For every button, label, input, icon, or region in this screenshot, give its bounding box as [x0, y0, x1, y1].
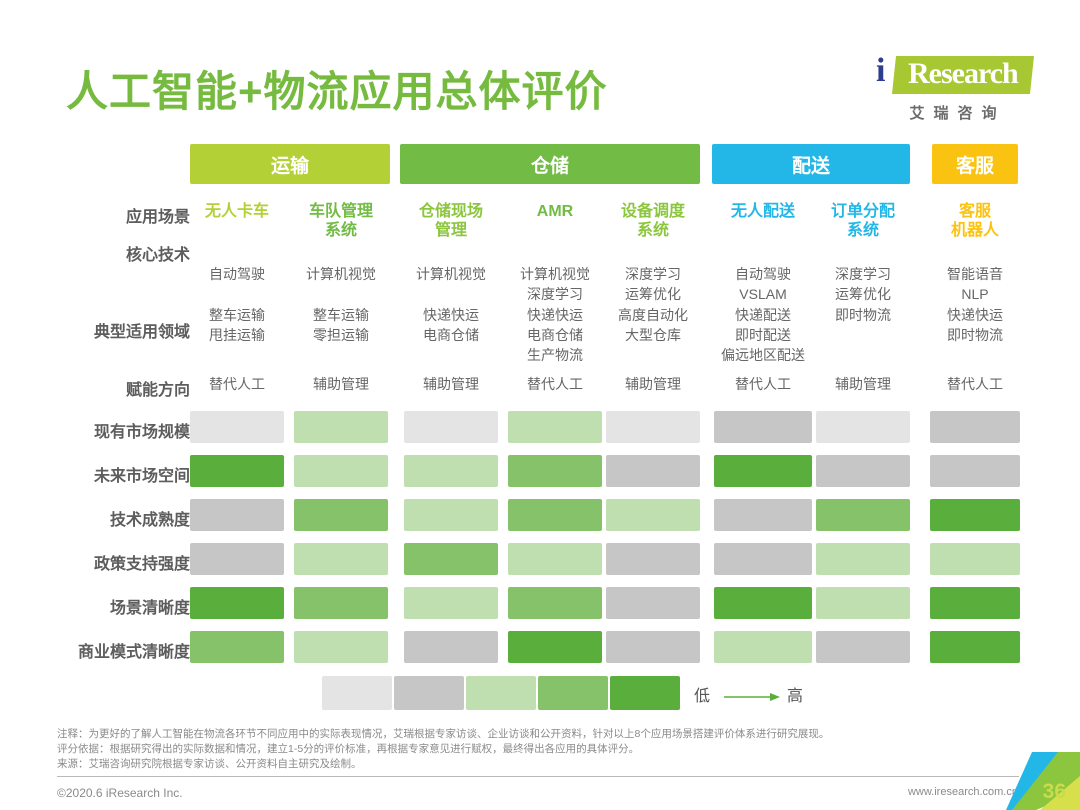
- row-label-domain: 典型适用领域: [40, 318, 190, 342]
- cell-technology-3: 计算机视觉深度学习: [508, 264, 602, 304]
- column-header-7[interactable]: 客服机器人: [930, 202, 1020, 240]
- legend-swatch-3: [466, 676, 536, 710]
- cell-technology-7: 智能语音NLP: [930, 264, 1020, 304]
- cell-empower-2: 辅助管理: [404, 374, 498, 394]
- cell-empower-7: 替代人工: [930, 374, 1020, 394]
- heat-cell-r4-c6[interactable]: [816, 587, 910, 619]
- cell-domain-0: 整车运输甩挂运输: [190, 305, 284, 345]
- heat-cell-r4-c4[interactable]: [606, 587, 700, 619]
- heat-cell-r5-c3[interactable]: [508, 631, 602, 663]
- heat-cell-r1-c1[interactable]: [294, 455, 388, 487]
- heat-cell-r2-c4[interactable]: [606, 499, 700, 531]
- heat-cell-r5-c4[interactable]: [606, 631, 700, 663]
- heat-cell-r2-c0[interactable]: [190, 499, 284, 531]
- heat-cell-r1-c3[interactable]: [508, 455, 602, 487]
- cell-domain-3: 快递快运电商仓储生产物流: [508, 305, 602, 365]
- cell-domain-1: 整车运输零担运输: [294, 305, 388, 345]
- row-label-technology: 核心技术: [40, 241, 190, 265]
- heat-cell-r0-c3[interactable]: [508, 411, 602, 443]
- category-header-1[interactable]: 仓储: [400, 144, 700, 184]
- category-header-3[interactable]: 客服: [932, 144, 1018, 184]
- heat-cell-r5-c0[interactable]: [190, 631, 284, 663]
- heat-cell-r0-c2[interactable]: [404, 411, 498, 443]
- heat-cell-r1-c2[interactable]: [404, 455, 498, 487]
- heat-cell-r2-c6[interactable]: [816, 499, 910, 531]
- heat-cell-r4-c5[interactable]: [714, 587, 812, 619]
- heat-cell-r0-c7[interactable]: [930, 411, 1020, 443]
- heat-cell-r1-c0[interactable]: [190, 455, 284, 487]
- heat-cell-r4-c1[interactable]: [294, 587, 388, 619]
- cell-domain-6: 即时物流: [816, 305, 910, 325]
- heat-cell-r3-c7[interactable]: [930, 543, 1020, 575]
- heat-cell-r5-c2[interactable]: [404, 631, 498, 663]
- heat-cell-r3-c1[interactable]: [294, 543, 388, 575]
- heat-cell-r2-c3[interactable]: [508, 499, 602, 531]
- heat-cell-r5-c6[interactable]: [816, 631, 910, 663]
- column-header-2[interactable]: 仓储现场管理: [404, 202, 498, 240]
- heat-cell-r1-c5[interactable]: [714, 455, 812, 487]
- column-header-3[interactable]: AMR: [508, 202, 602, 221]
- column-header-5[interactable]: 无人配送: [714, 202, 812, 221]
- heat-cell-r3-c6[interactable]: [816, 543, 910, 575]
- rating-row-label-2: 技术成熟度: [40, 506, 190, 530]
- heat-cell-r0-c5[interactable]: [714, 411, 812, 443]
- column-header-1[interactable]: 车队管理系统: [294, 202, 388, 240]
- legend-swatch-4: [538, 676, 608, 710]
- heat-cell-r3-c2[interactable]: [404, 543, 498, 575]
- column-header-6[interactable]: 订单分配系统: [816, 202, 910, 240]
- slide: 人工智能+物流应用总体评价 i Research 艾瑞咨询 运输仓储配送客服应用…: [0, 0, 1080, 810]
- rating-row-label-4: 场景清晰度: [40, 594, 190, 618]
- heat-cell-r5-c5[interactable]: [714, 631, 812, 663]
- row-label-scenario: 应用场景: [40, 203, 190, 227]
- legend-high-label: 高: [787, 682, 803, 706]
- footnote-line-2: 评分依据：根据研究得出的实际数据和情况，建立1-5分的评价标准，再根据专家意见进…: [57, 742, 1019, 757]
- category-header-0[interactable]: 运输: [190, 144, 390, 184]
- heat-cell-r5-c1[interactable]: [294, 631, 388, 663]
- heat-cell-r4-c2[interactable]: [404, 587, 498, 619]
- column-header-4[interactable]: 设备调度系统: [606, 202, 700, 240]
- rating-row-label-0: 现有市场规模: [40, 418, 190, 442]
- website-url: www.iresearch.com.cn: [908, 786, 1018, 798]
- cell-domain-5: 快递配送即时配送偏远地区配送: [714, 305, 812, 365]
- cell-empower-5: 替代人工: [714, 374, 812, 394]
- cell-technology-6: 深度学习运筹优化: [816, 264, 910, 304]
- rating-row-label-1: 未来市场空间: [40, 462, 190, 486]
- heat-cell-r2-c7[interactable]: [930, 499, 1020, 531]
- heat-cell-r3-c3[interactable]: [508, 543, 602, 575]
- heat-cell-r2-c5[interactable]: [714, 499, 812, 531]
- heat-cell-r2-c2[interactable]: [404, 499, 498, 531]
- cell-technology-1: 计算机视觉: [294, 264, 388, 284]
- legend-swatch-5: [610, 676, 680, 710]
- legend-low-label: 低: [694, 682, 710, 706]
- cell-technology-2: 计算机视觉: [404, 264, 498, 284]
- heat-cell-r0-c0[interactable]: [190, 411, 284, 443]
- rating-row-label-5: 商业模式清晰度: [40, 638, 190, 662]
- heat-cell-r0-c1[interactable]: [294, 411, 388, 443]
- footer-divider: [57, 776, 1019, 777]
- page-number: 36: [1043, 780, 1066, 804]
- cell-technology-4: 深度学习运筹优化: [606, 264, 700, 304]
- footnote: 注释：为更好的了解人工智能在物流各环节不同应用中的实际表现情况，艾瑞根据专家访谈…: [57, 727, 1019, 772]
- cell-empower-0: 替代人工: [190, 374, 284, 394]
- heat-cell-r2-c1[interactable]: [294, 499, 388, 531]
- footnote-line-1: 注释：为更好的了解人工智能在物流各环节不同应用中的实际表现情况，艾瑞根据专家访谈…: [57, 727, 1019, 742]
- column-header-0[interactable]: 无人卡车: [190, 202, 284, 221]
- heat-cell-r5-c7[interactable]: [930, 631, 1020, 663]
- legend-arrow-icon: [724, 692, 780, 702]
- category-header-2[interactable]: 配送: [712, 144, 910, 184]
- cell-empower-1: 辅助管理: [294, 374, 388, 394]
- copyright-text: ©2020.6 iResearch Inc.: [57, 786, 183, 800]
- heat-cell-r4-c3[interactable]: [508, 587, 602, 619]
- heat-cell-r1-c6[interactable]: [816, 455, 910, 487]
- heat-cell-r0-c4[interactable]: [606, 411, 700, 443]
- heat-cell-r0-c6[interactable]: [816, 411, 910, 443]
- footnote-line-3: 来源：艾瑞咨询研究院根据专家访谈、公开资料自主研究及绘制。: [57, 757, 1019, 772]
- heat-cell-r4-c7[interactable]: [930, 587, 1020, 619]
- cell-domain-2: 快递快运电商仓储: [404, 305, 498, 345]
- cell-empower-4: 辅助管理: [606, 374, 700, 394]
- heat-cell-r1-c4[interactable]: [606, 455, 700, 487]
- cell-empower-6: 辅助管理: [816, 374, 910, 394]
- heat-cell-r1-c7[interactable]: [930, 455, 1020, 487]
- row-label-empower: 赋能方向: [40, 376, 190, 400]
- heat-cell-r4-c0[interactable]: [190, 587, 284, 619]
- cell-empower-3: 替代人工: [508, 374, 602, 394]
- heat-cell-r3-c0[interactable]: [190, 543, 284, 575]
- cell-technology-5: 自动驾驶VSLAM: [714, 264, 812, 304]
- cell-technology-0: 自动驾驶: [190, 264, 284, 284]
- legend-swatch-2: [394, 676, 464, 710]
- heat-cell-r3-c5[interactable]: [714, 543, 812, 575]
- cell-domain-4: 高度自动化大型仓库: [606, 305, 700, 345]
- cell-domain-7: 快递快运即时物流: [930, 305, 1020, 345]
- legend-swatch-1: [322, 676, 392, 710]
- rating-row-label-3: 政策支持强度: [40, 550, 190, 574]
- heat-cell-r3-c4[interactable]: [606, 543, 700, 575]
